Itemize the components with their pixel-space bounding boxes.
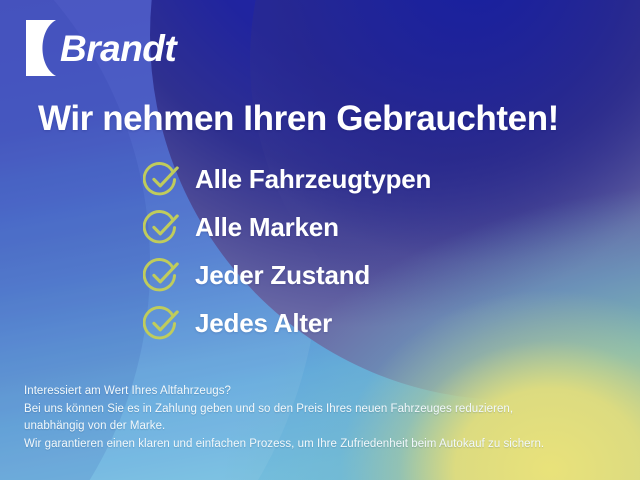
list-item: Alle Marken <box>143 203 431 251</box>
check-circle-icon <box>143 208 181 246</box>
check-circle-icon <box>143 160 181 198</box>
promo-banner: Brandt Wir nehmen Ihren Gebrauchten! All… <box>0 0 640 480</box>
footnote-line: Bei uns können Sie es in Zahlung geben u… <box>24 401 544 419</box>
list-item: Jeder Zustand <box>143 251 431 299</box>
footnote-line: Wir garantieren einen klaren und einfach… <box>24 436 544 454</box>
check-circle-icon <box>143 256 181 294</box>
banner-content: Brandt Wir nehmen Ihren Gebrauchten! All… <box>0 0 640 480</box>
page-title: Wir nehmen Ihren Gebrauchten! <box>38 99 559 139</box>
brand-name: Brandt <box>60 30 176 67</box>
bracket-logo-icon <box>26 20 56 76</box>
list-item-label: Alle Fahrzeugtypen <box>195 164 431 195</box>
list-item-label: Alle Marken <box>195 212 339 243</box>
list-item: Jedes Alter <box>143 299 431 347</box>
feature-list: Alle Fahrzeugtypen Alle Marken Jeder Zus… <box>143 155 431 347</box>
list-item: Alle Fahrzeugtypen <box>143 155 431 203</box>
list-item-label: Jedes Alter <box>195 308 332 339</box>
footnote-text: Interessiert am Wert Ihres Altfahrzeugs?… <box>24 383 544 453</box>
list-item-label: Jeder Zustand <box>195 260 370 291</box>
footnote-line: Interessiert am Wert Ihres Altfahrzeugs? <box>24 383 544 401</box>
brand-logo: Brandt <box>26 20 176 76</box>
footnote-line: unabhängig von der Marke. <box>24 418 544 436</box>
check-circle-icon <box>143 304 181 342</box>
